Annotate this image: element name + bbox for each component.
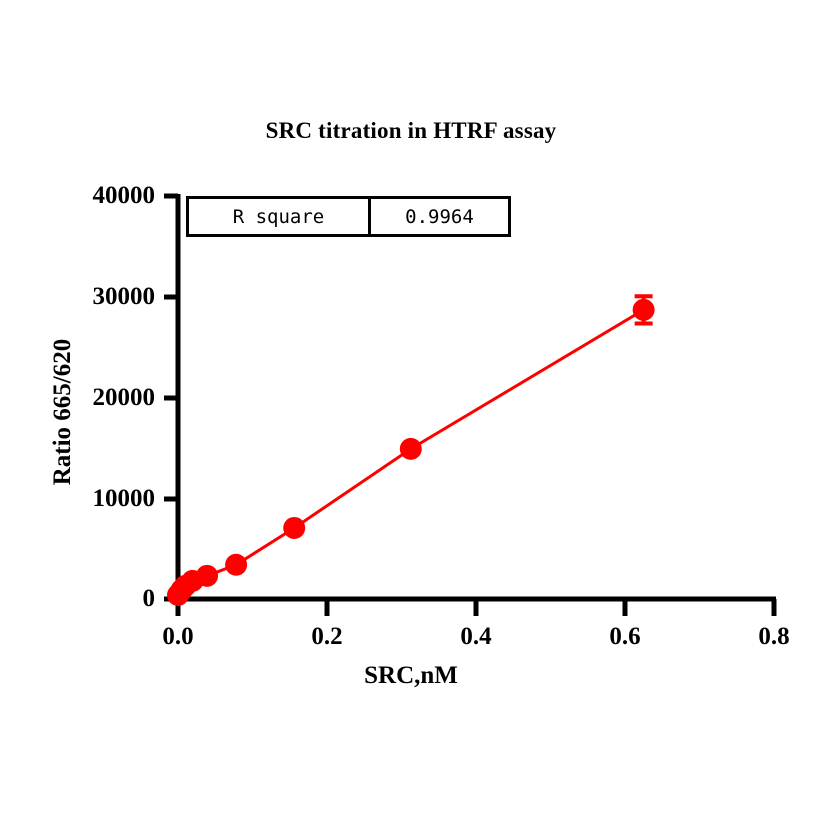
- y-tick-label-0: 0: [30, 585, 155, 613]
- x-tick-label-0.6: 0.6: [609, 623, 640, 651]
- data-point-marker: [400, 438, 422, 460]
- r-square-annotation-box: R square 0.9964: [186, 196, 511, 237]
- x-axis-title: SRC,nM: [0, 662, 822, 690]
- data-point-marker: [196, 565, 218, 587]
- data-point-marker: [283, 517, 305, 539]
- x-tick-label-0.0: 0.0: [162, 623, 193, 651]
- x-axis-ticks: [178, 599, 774, 616]
- x-tick-label-0.4: 0.4: [460, 623, 491, 651]
- data-point-marker: [225, 554, 247, 576]
- x-tick-label-0.8: 0.8: [758, 623, 789, 651]
- data-markers: [167, 299, 655, 606]
- x-tick-label-0.2: 0.2: [311, 623, 342, 651]
- r-square-label: R square: [189, 199, 371, 234]
- data-point-marker: [633, 299, 655, 321]
- axis-spines: [176, 194, 776, 601]
- y-tick-label-40000: 40000: [30, 182, 155, 210]
- y-axis-title: Ratio 665/620: [49, 262, 77, 562]
- chart-figure: SRC titration in HTRF assay 40000: [0, 0, 822, 822]
- r-square-value: 0.9964: [371, 199, 508, 234]
